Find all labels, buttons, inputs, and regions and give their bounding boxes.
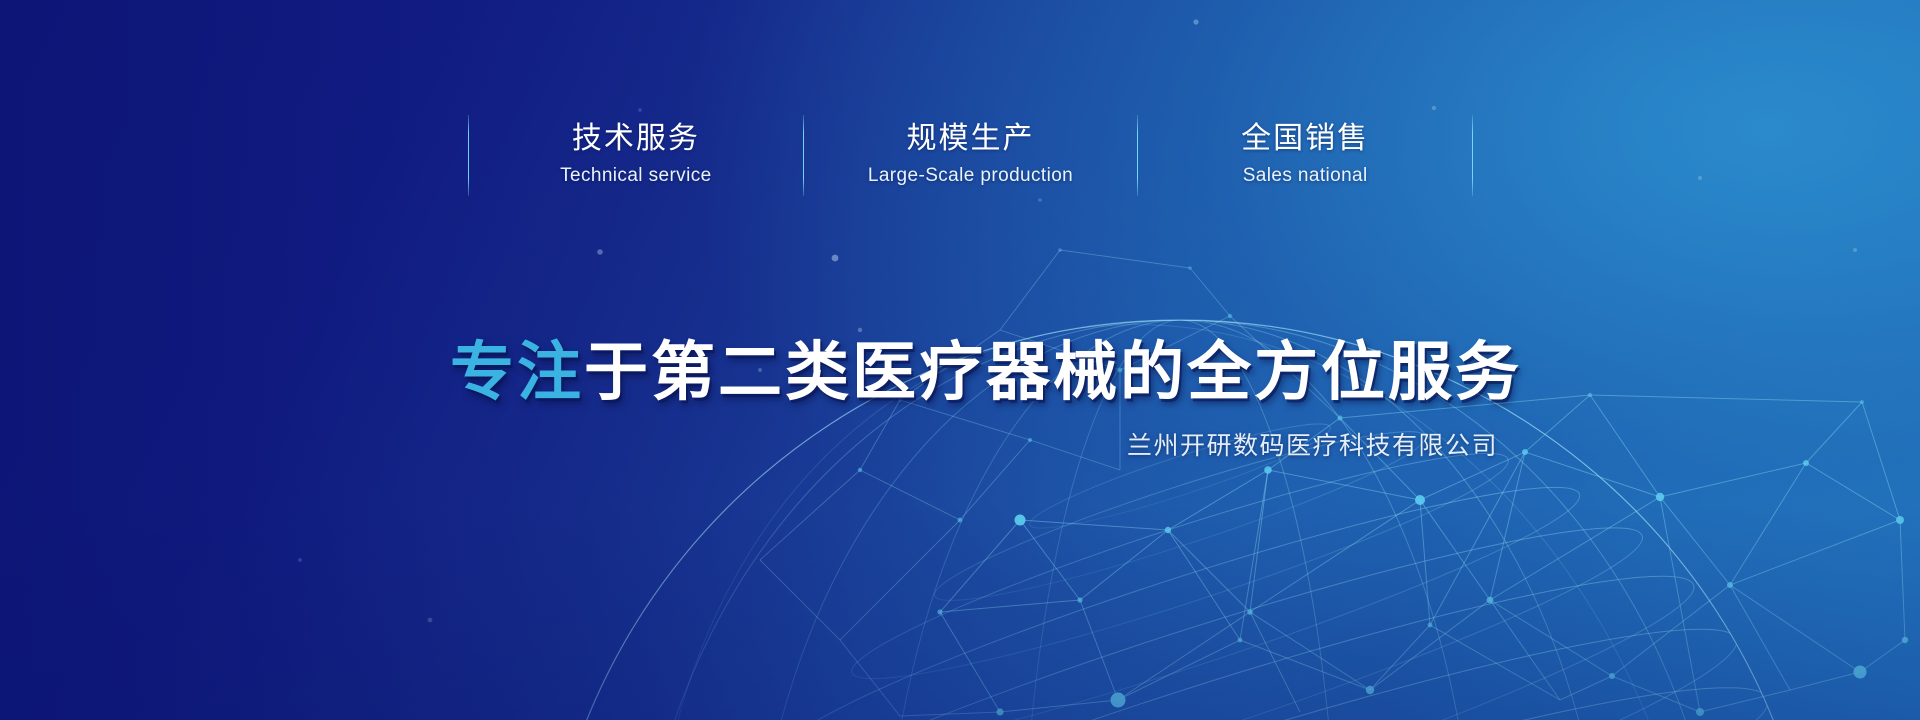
feature-item-technical-service[interactable]: 技术服务 Technical service [469,104,803,204]
feature-title-en: Large-Scale production [868,165,1073,188]
headline-rest-text: 于第二类医疗器械的全方位服务 [584,336,1522,408]
feature-strip: 技术服务 Technical service 规模生产 Large-Scale … [468,104,1473,204]
headline-accent-text: 专注 [450,336,584,408]
hero-headline: 专注于第二类医疗器械的全方位服务 [450,336,1498,408]
feature-title-cn: 技术服务 [572,120,700,158]
feature-title-en: Technical service [560,165,711,188]
feature-divider-3 [1472,115,1473,196]
hero-subheadline: 兰州开研数码医疗科技有限公司 [450,430,1498,462]
headline-block: 专注于第二类医疗器械的全方位服务 兰州开研数码医疗科技有限公司 [450,336,1498,462]
feature-item-sales-national[interactable]: 全国销售 Sales national [1138,104,1472,204]
feature-title-en: Sales national [1243,165,1368,188]
feature-title-cn: 规模生产 [907,120,1035,158]
feature-title-cn: 全国销售 [1241,120,1369,158]
hero-banner: 技术服务 Technical service 规模生产 Large-Scale … [0,0,1920,720]
feature-item-large-scale-production[interactable]: 规模生产 Large-Scale production [804,104,1138,204]
